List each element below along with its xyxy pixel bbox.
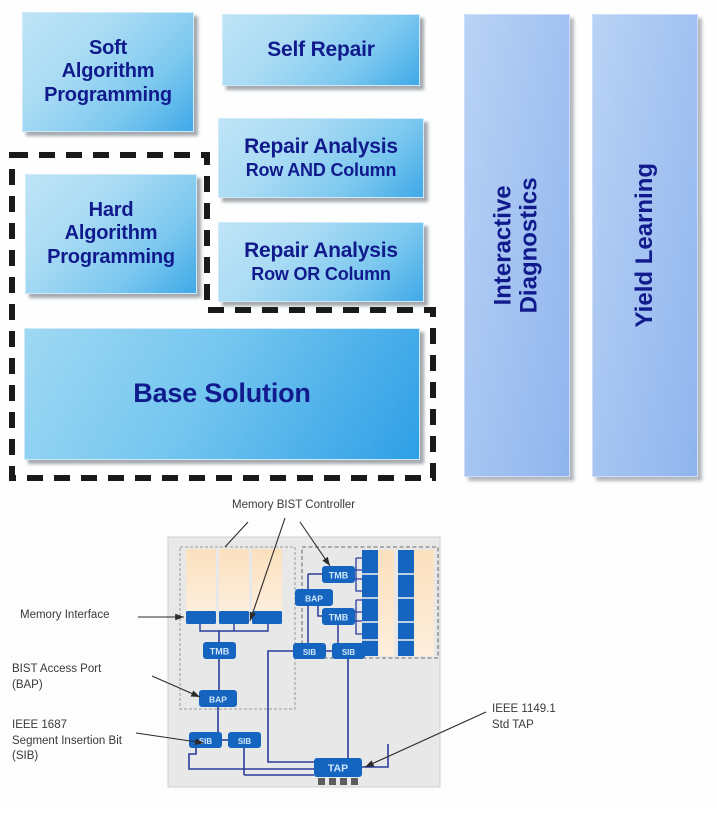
block-bap-left[interactable]: BAP [199,690,237,707]
capability-box-self-repair[interactable]: Self Repair [222,14,420,86]
memory-interface-bar [186,611,216,624]
block-sib-left-1-label: SIB [199,737,213,746]
memory-bist-architecture-diagram: TMB BAP SIB SIB [0,490,717,809]
self-repair-label: Self Repair [267,38,375,62]
hard-line-1: Hard [47,199,175,222]
memory-column [219,549,249,611]
yield-learning-label: Yield Learning [631,163,658,327]
capability-box-yield-learning[interactable]: Yield Learning [592,14,698,477]
block-sib-left-2-label: SIB [238,737,252,746]
block-tap[interactable]: TAP [314,758,362,777]
capability-box-repair-analysis-row-or-column[interactable]: Repair Analysis Row OR Column [218,222,424,302]
memory-column [378,550,394,656]
base-solution-label: Base Solution [133,378,310,409]
soft-line-3: Programming [44,84,172,107]
block-tmb-right-2-label: TMB [329,613,349,623]
callout-ieee-1687-sib: IEEE 1687 Segment Insertion Bit (SIB) [12,718,122,765]
block-tmb-right-1-label: TMB [329,571,349,581]
repair-analysis-or-subtitle: Row OR Column [244,264,398,285]
capability-box-soft-algorithm-programming[interactable]: Soft Algorithm Programming [22,12,194,132]
hard-line-2: Algorithm [47,222,175,245]
capability-box-hard-algorithm-programming[interactable]: Hard Algorithm Programming [25,174,197,294]
block-tmb-left-label: TMB [210,647,230,657]
memory-interface-bar [219,611,249,624]
interactive-diagnostics-line-1: Interactive [490,185,517,305]
capability-box-interactive-diagnostics[interactable]: Interactive Diagnostics [464,14,570,477]
soft-line-2: Algorithm [44,60,172,83]
block-sib-right-2[interactable]: SIB [332,643,365,659]
block-sib-right-1[interactable]: SIB [293,643,326,659]
hard-line-3: Programming [47,246,175,269]
memory-interface-bar [252,611,282,624]
block-tap-label: TAP [328,763,348,775]
callout-bist-access-port: BIST Access Port (BAP) [12,662,101,693]
block-bap-right[interactable]: BAP [295,589,333,606]
soft-line-1: Soft [44,37,172,60]
memory-column [414,550,434,656]
capability-box-repair-analysis-row-and-column[interactable]: Repair Analysis Row AND Column [218,118,424,198]
callout-memory-interface: Memory Interface [20,608,109,624]
repair-analysis-and-subtitle: Row AND Column [244,160,398,181]
block-sib-right-2-label: SIB [342,648,356,657]
callout-memory-bist-controller: Memory BIST Controller [232,498,355,514]
interactive-diagnostics-line-2: Diagnostics [516,177,543,313]
repair-analysis-or-title: Repair Analysis [244,239,398,263]
block-bap-left-label: BAP [209,695,227,705]
repair-analysis-and-title: Repair Analysis [244,135,398,159]
capability-box-base-solution[interactable]: Base Solution [24,328,420,460]
block-tmb-right-2[interactable]: TMB [322,608,355,625]
block-sib-left-1[interactable]: SIB [189,732,222,748]
block-tmb-left[interactable]: TMB [203,642,236,659]
block-tmb-right-1[interactable]: TMB [322,566,355,583]
block-bap-right-label: BAP [305,594,323,604]
block-sib-left-2[interactable]: SIB [228,732,261,748]
block-sib-right-1-label: SIB [303,648,317,657]
callout-ieee-1149-std-tap: IEEE 1149.1 Std TAP [492,702,556,733]
memory-column [186,549,216,611]
